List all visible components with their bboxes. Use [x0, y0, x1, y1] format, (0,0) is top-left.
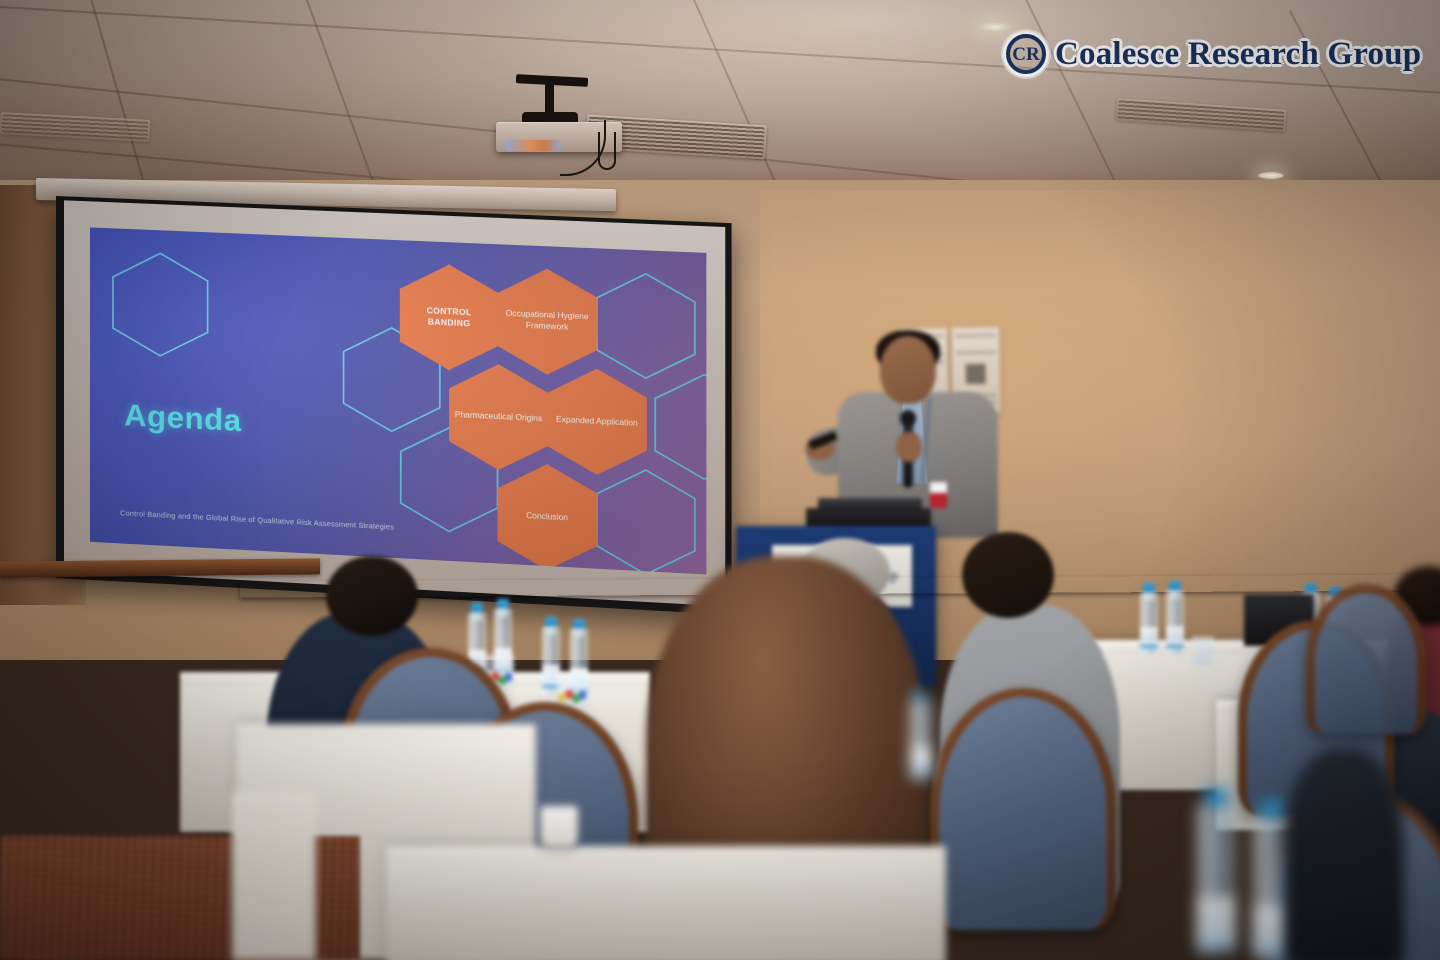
- screen-surface: CONTROL BANDINGOccupational Hygiene Fram…: [64, 200, 725, 606]
- recessed-ceiling-light-2: [1258, 172, 1284, 179]
- hexagon-label: Expanded Application: [551, 414, 643, 429]
- qr-code-icon: [966, 363, 986, 383]
- drinking-glass: [1192, 636, 1214, 666]
- hexagon-expanded-application: Expanded Application: [547, 366, 647, 477]
- hexagon-label: Occupational Hygiene Framework: [497, 308, 596, 334]
- speaker-name-badge: [930, 482, 947, 508]
- coalesce-monogram-icon: CR: [1006, 34, 1046, 74]
- projector-lens: [505, 140, 561, 151]
- hexagon-outline-0: [112, 250, 209, 359]
- speaker-mic-hand: [896, 432, 922, 462]
- projected-slide: CONTROL BANDINGOccupational Hygiene Fram…: [90, 227, 706, 574]
- hexagon-diagram: CONTROL BANDINGOccupational Hygiene Fram…: [90, 227, 706, 252]
- table-skirt-left: [232, 792, 316, 960]
- hexagon-label: Conclusion: [521, 510, 573, 524]
- microphone-head: [900, 410, 916, 426]
- brand-name: Coalesce Research Group: [1055, 36, 1421, 73]
- hexagon-outline-5: [596, 467, 696, 575]
- projection-screen: CONTROL BANDINGOccupational Hygiene Fram…: [56, 196, 732, 615]
- slide-footer: Control Banding and the Global Rise of Q…: [120, 508, 394, 531]
- water-bottle-foreground: [910, 700, 932, 780]
- recessed-ceiling-light: [978, 22, 1012, 32]
- hexagon-occupational-hygiene-framework: Occupational Hygiene Framework: [497, 267, 596, 377]
- audience-member-foreground-dark: [1284, 748, 1404, 960]
- banquet-chair: [930, 688, 1116, 930]
- hexagon-label: Pharmaceutical Origins: [450, 409, 548, 425]
- audience-head: [326, 556, 418, 636]
- conference-photo: CONTROL BANDINGOccupational Hygiene Fram…: [0, 0, 1440, 960]
- slide-title: Agenda: [124, 397, 242, 439]
- coffee-cup: [540, 806, 578, 848]
- projector-cable-loop: [598, 132, 616, 170]
- speaker-head: [880, 336, 936, 404]
- ceiling: [0, 0, 1440, 200]
- water-bottle-foreground: [1196, 804, 1236, 954]
- hexagon-conclusion: Conclusion: [497, 462, 596, 573]
- hexagon-outline-4: [654, 371, 706, 482]
- hexagon-outline-3: [596, 271, 696, 382]
- candy-jar: [556, 672, 588, 706]
- audience-head-dark: [962, 532, 1054, 618]
- hexagon-label: CONTROL BANDING: [400, 304, 499, 331]
- stacked-notebooks: [1118, 588, 1204, 602]
- foreground-table-center: [386, 846, 946, 960]
- wall-chair-rail-left: [0, 558, 320, 577]
- watermark-logo: CR Coalesce Research Group: [1006, 34, 1421, 74]
- banquet-chair: [1306, 584, 1426, 734]
